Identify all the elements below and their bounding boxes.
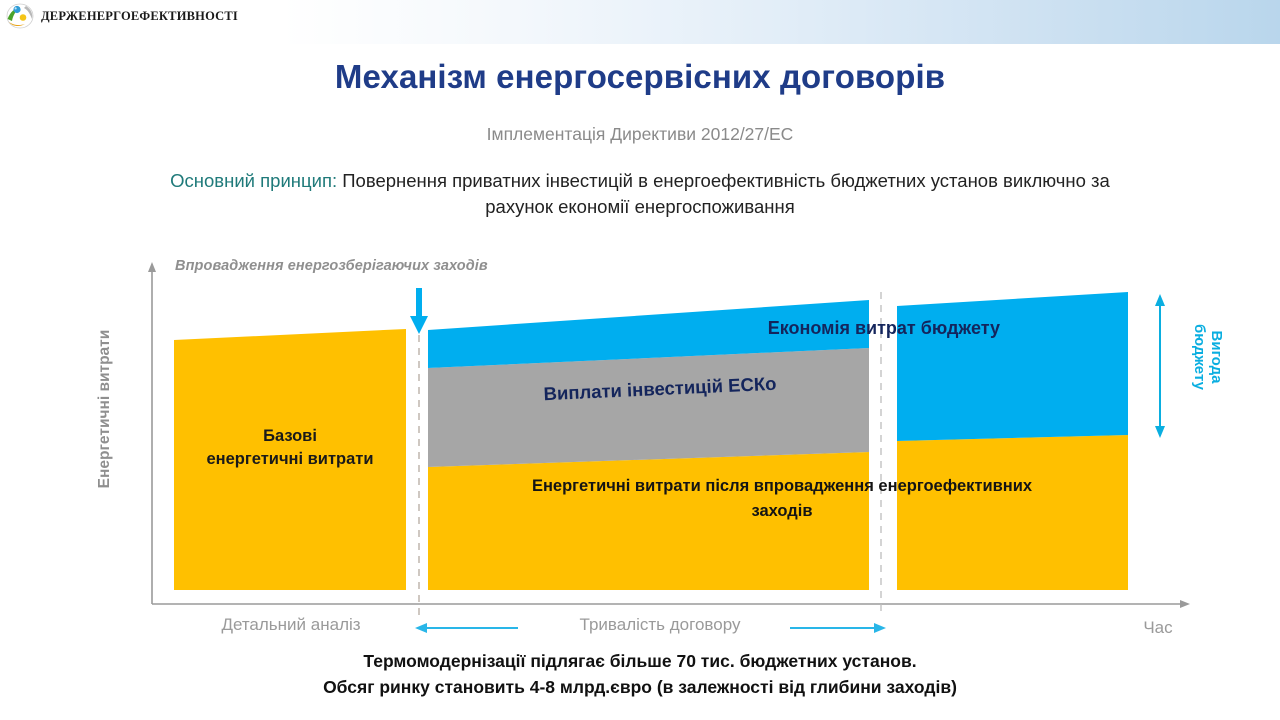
- esco-mechanism-chart: [0, 0, 1280, 720]
- label-benefit-line1: Вигода: [1208, 297, 1225, 417]
- principle-text: Повернення приватних інвестицій в енерго…: [337, 170, 1110, 217]
- area-budget-benefit: [897, 292, 1128, 441]
- budget-benefit-arrow-icon: [1155, 294, 1165, 438]
- globe-logo-icon: [6, 3, 34, 29]
- label-after-line2: заходів: [432, 499, 1132, 524]
- footer-note: Термомодернізації підлягає більше 70 тис…: [0, 648, 1280, 700]
- principle-statement: Основний принцип: Повернення приватних і…: [140, 168, 1140, 220]
- label-baseline-line2: енергетичні витрати: [176, 448, 404, 471]
- label-benefit-line2: бюджету: [1191, 297, 1208, 417]
- label-esco-payments: Виплати інвестицій ЕСКо: [470, 369, 851, 408]
- label-budget-benefit: Вигода бюджету: [1191, 297, 1225, 417]
- page-subtitle: Імплементація Директиви 2012/27/ЕС: [0, 124, 1280, 145]
- label-after-line1: Енергетичні витрати після впровадження е…: [432, 474, 1132, 499]
- label-baseline-energy-costs: Базові енергетичні витрати: [176, 425, 404, 471]
- label-phase-contract-duration: Тривалість договору: [500, 615, 820, 635]
- brand-name: Держенергоефективності: [41, 9, 238, 24]
- footer-line-1: Термомодернізації підлягає більше 70 тис…: [0, 648, 1280, 674]
- page-title: Механізм енергосервісних договорів: [0, 58, 1280, 96]
- x-axis-arrow-icon: [1180, 600, 1190, 608]
- footer-line-2: Обсяг ринку становить 4-8 млрд.євро (в з…: [0, 674, 1280, 700]
- principle-label: Основний принцип:: [170, 170, 337, 191]
- label-budget-savings: Економія витрат бюджету: [600, 318, 1000, 339]
- implementation-arrow-icon: [410, 288, 428, 334]
- x-axis-label: Час: [1118, 618, 1198, 638]
- implementation-note: Впровадження енергозберігаючих заходів: [175, 258, 595, 274]
- label-phase-detailed-analysis: Детальний аналіз: [176, 615, 406, 635]
- brand-logo-area: Держенергоефективності: [6, 3, 238, 29]
- y-axis-arrow-icon: [148, 262, 156, 272]
- y-axis-label: Енергетичні витрати: [96, 294, 114, 524]
- label-baseline-line1: Базові: [176, 425, 404, 448]
- label-energy-costs-after: Енергетичні витрати після впровадження е…: [432, 474, 1132, 524]
